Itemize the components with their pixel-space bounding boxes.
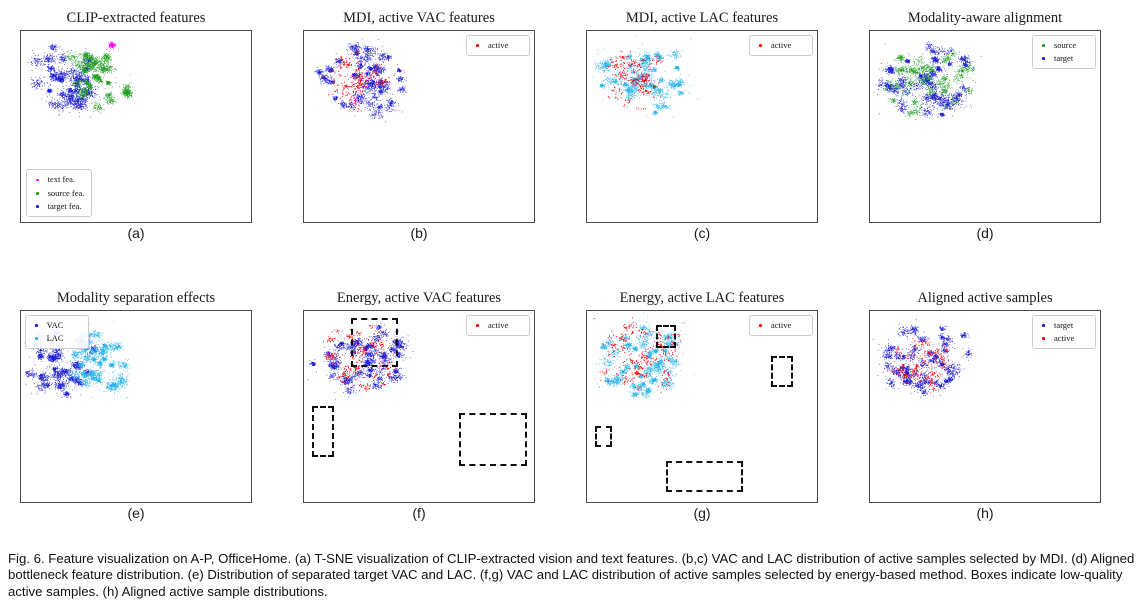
- scatter-plot-b[interactable]: active: [303, 30, 535, 223]
- panel-title-c: MDI, active LAC features: [586, 10, 818, 27]
- legend-item: text fea.: [31, 173, 84, 186]
- panel-title-d: Modality-aware alignment: [869, 10, 1101, 27]
- scatter-plot-d[interactable]: sourcetarget: [869, 30, 1101, 223]
- scatter-plot-g[interactable]: active: [586, 310, 818, 503]
- legend-marker-dot-icon: [36, 192, 39, 195]
- scatter-canvas-f: [304, 311, 534, 502]
- panel-letter-d: (d): [869, 225, 1101, 241]
- panel-letter-a: (a): [20, 225, 252, 241]
- legend-d: sourcetarget: [1032, 35, 1096, 69]
- legend-marker-dot-icon: [35, 324, 38, 327]
- legend-h: targetactive: [1032, 315, 1096, 349]
- legend-item: active: [754, 39, 805, 52]
- low-quality-region-box-f-3: [459, 413, 527, 466]
- scatter-plot-c[interactable]: active: [586, 30, 818, 223]
- legend-item: target: [1037, 319, 1088, 332]
- legend-marker-dot-icon: [1042, 44, 1045, 47]
- panel-letter-e: (e): [20, 505, 252, 521]
- legend-label: source fea.: [48, 187, 85, 200]
- legend-marker-dot-icon: [36, 205, 39, 208]
- panel-title-g: Energy, active LAC features: [586, 290, 818, 307]
- low-quality-region-box-g-3: [595, 426, 612, 447]
- scatter-plot-e[interactable]: VACLAC: [20, 310, 252, 503]
- panel-letter-h: (h): [869, 505, 1101, 521]
- scatter-plot-h[interactable]: targetactive: [869, 310, 1101, 503]
- panel-f: Energy, active VAC featuresactive(f): [303, 290, 535, 503]
- legend-label: text fea.: [48, 173, 82, 186]
- legend-marker-dot-icon: [1042, 57, 1045, 60]
- panel-title-f: Energy, active VAC features: [303, 290, 535, 307]
- panel-letter-b: (b): [303, 225, 535, 241]
- legend-e: VACLAC: [25, 315, 89, 349]
- legend-item: LAC: [30, 332, 81, 345]
- panel-title-b: MDI, active VAC features: [303, 10, 535, 27]
- panel-d: Modality-aware alignmentsourcetarget(d): [869, 10, 1101, 223]
- low-quality-region-box-f-2: [312, 406, 334, 458]
- legend-b: active: [466, 35, 530, 56]
- legend-marker-dot-icon: [1042, 324, 1045, 327]
- legend-marker-dot-icon: [36, 179, 39, 182]
- panel-g: Energy, active LAC featuresactive(g): [586, 290, 818, 503]
- low-quality-region-box-g-2: [771, 356, 793, 388]
- panel-title-a: CLIP-extracted features: [20, 10, 252, 27]
- panel-title-h: Aligned active samples: [869, 290, 1101, 307]
- legend-label: active: [488, 319, 522, 332]
- panel-letter-g: (g): [586, 505, 818, 521]
- low-quality-region-box-g-1: [656, 325, 676, 348]
- panel-b: MDI, active VAC featuresactive(b): [303, 10, 535, 223]
- legend-label: target: [1054, 319, 1088, 332]
- legend-item: source fea.: [31, 187, 84, 200]
- scatter-plot-a[interactable]: text fea.source fea.target fea.: [20, 30, 252, 223]
- scatter-plot-f[interactable]: active: [303, 310, 535, 503]
- legend-marker-dot-icon: [476, 324, 479, 327]
- low-quality-region-box-g-4: [666, 461, 743, 493]
- legend-label: active: [488, 39, 522, 52]
- legend-item: active: [471, 319, 522, 332]
- figure-caption: Fig. 6. Feature visualization on A-P, Of…: [8, 551, 1138, 600]
- legend-item: VAC: [30, 319, 81, 332]
- legend-marker-dot-icon: [759, 324, 762, 327]
- low-quality-region-box-f-1: [351, 318, 398, 368]
- scatter-canvas-b: [304, 31, 534, 222]
- panel-e: Modality separation effectsVACLAC(e): [20, 290, 252, 503]
- panel-letter-f: (f): [303, 505, 535, 521]
- legend-label: active: [771, 39, 805, 52]
- legend-a: text fea.source fea.target fea.: [26, 169, 92, 217]
- legend-label: LAC: [47, 332, 81, 345]
- legend-item: source: [1037, 39, 1088, 52]
- legend-c: active: [749, 35, 813, 56]
- legend-label: target: [1054, 52, 1088, 65]
- scatter-canvas-c: [587, 31, 817, 222]
- legend-marker-dot-icon: [759, 44, 762, 47]
- legend-marker-dot-icon: [476, 44, 479, 47]
- panel-letter-c: (c): [586, 225, 818, 241]
- panel-h: Aligned active samplestargetactive(h): [869, 290, 1101, 503]
- legend-item: target: [1037, 52, 1088, 65]
- legend-item: active: [471, 39, 522, 52]
- legend-label: VAC: [47, 319, 81, 332]
- legend-g: active: [749, 315, 813, 336]
- panel-c: MDI, active LAC featuresactive(c): [586, 10, 818, 223]
- legend-label: source: [1054, 39, 1088, 52]
- legend-marker-dot-icon: [1042, 337, 1045, 340]
- legend-label: active: [771, 319, 805, 332]
- legend-marker-dot-icon: [35, 337, 38, 340]
- legend-label: target fea.: [48, 200, 82, 213]
- legend-item: active: [754, 319, 805, 332]
- legend-f: active: [466, 315, 530, 336]
- legend-item: target fea.: [31, 200, 84, 213]
- legend-label: active: [1054, 332, 1088, 345]
- figure-container: CLIP-extracted featurestext fea.source f…: [0, 0, 1143, 615]
- panel-title-e: Modality separation effects: [20, 290, 252, 307]
- legend-item: active: [1037, 332, 1088, 345]
- panel-a: CLIP-extracted featurestext fea.source f…: [20, 10, 252, 223]
